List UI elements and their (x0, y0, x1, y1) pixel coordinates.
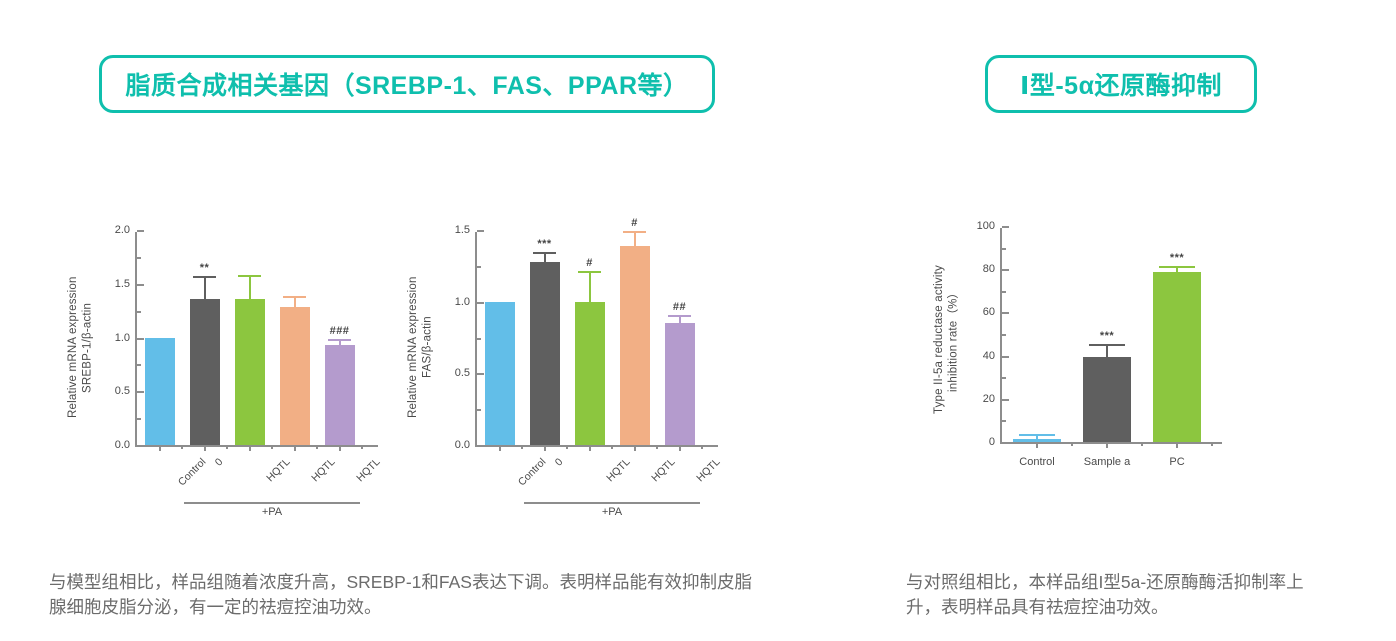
significance-marker: # (586, 257, 593, 269)
xtick-label: Control (515, 456, 547, 488)
panel-title-5alpha-reductase: Ⅰ型-5α还原酶抑制 (985, 55, 1257, 113)
error-bar (589, 273, 591, 302)
ytick-label: 0 (989, 436, 1002, 448)
ylabel-line-0: Relative mRNA expression (406, 240, 420, 455)
ytick-label: 40 (983, 350, 1002, 362)
chart-reductase-plot-area: 020406080100Control***Sample a***PC (1000, 228, 1222, 444)
bar (235, 299, 265, 445)
bar (1013, 439, 1061, 442)
error-bar (1036, 436, 1038, 439)
bar (530, 262, 560, 445)
xtick-minor (361, 445, 363, 449)
xtick-minor (611, 445, 613, 449)
error-bar (249, 277, 251, 299)
xtick (679, 445, 681, 451)
chart-reductase-ylabel: Type II-5a reductase activityinhibition … (932, 232, 961, 447)
xtick (249, 445, 251, 451)
xtick-label: HQTL (309, 456, 337, 484)
xtick (294, 445, 296, 451)
ytick-label: 0.0 (455, 439, 477, 451)
significance-marker: ## (673, 301, 686, 313)
xtick-minor (1211, 442, 1213, 446)
ytick-label: 100 (977, 220, 1002, 232)
ylabel-line-0: Relative mRNA expression (66, 240, 80, 455)
xtick (544, 445, 546, 451)
bar (325, 345, 355, 445)
xtick-label: HQTL (354, 456, 382, 484)
xtick-minor (701, 445, 703, 449)
ytick-label: 0.5 (455, 367, 477, 379)
xtick-label: Control (1019, 456, 1054, 468)
significance-marker: *** (1100, 330, 1114, 342)
xtick-label: 0 (552, 456, 565, 469)
xtick-label: HQTL (649, 456, 677, 484)
ylabel-line-1: inhibition rate（%） (946, 232, 960, 447)
ytick-label: 20 (983, 393, 1002, 405)
xtick (634, 445, 636, 451)
error-bar-cap (283, 296, 305, 298)
xtick (159, 445, 161, 451)
chart-srebp1-plot-area: 0.00.51.01.52.0Control**0HQTLHQTL###HQTL… (135, 232, 378, 447)
xtick-label: HQTL (264, 456, 292, 484)
xtick (499, 445, 501, 451)
bar (620, 246, 650, 445)
significance-marker: *** (537, 238, 551, 250)
xtick (1106, 442, 1108, 448)
xtick-label: 0 (212, 456, 225, 469)
error-bar (294, 298, 296, 308)
bar (665, 323, 695, 445)
xtick (1036, 442, 1038, 448)
panel-title-lipid-synthesis-genes: 脂质合成相关基因（SREBP-1、FAS、PPAR等） (99, 55, 715, 113)
error-bar (679, 317, 681, 323)
ytick-label: 1.0 (455, 296, 477, 308)
significance-marker: ** (200, 262, 210, 274)
error-bar-cap (533, 252, 555, 254)
xtick (589, 445, 591, 451)
error-bar-cap (623, 231, 645, 233)
group-bracket-line (524, 502, 700, 504)
xtick-label: HQTL (694, 456, 722, 484)
error-bar-cap (328, 339, 350, 341)
xtick-minor (316, 445, 318, 449)
error-bar-cap (1019, 434, 1055, 436)
ytick-label: 0.5 (115, 385, 137, 397)
error-bar (634, 233, 636, 246)
bar (280, 307, 310, 445)
error-bar (339, 341, 341, 345)
group-bracket-label: +PA (262, 506, 282, 518)
xtick (339, 445, 341, 451)
xtick-minor (271, 445, 273, 449)
group-bracket-label: +PA (602, 506, 622, 518)
significance-marker: ### (330, 325, 350, 337)
xtick-minor (226, 445, 228, 449)
error-bar (544, 254, 546, 261)
bar (1083, 357, 1131, 442)
significance-marker: *** (1170, 252, 1184, 264)
chart-srebp1-ylabel: Relative mRNA expressionSREBP-1/β-actin (66, 240, 95, 455)
xtick-minor (1071, 442, 1073, 446)
chart-fas-plot-area: 0.00.51.01.5Control***0#HQTL#HQTL##HQTL+… (475, 232, 718, 447)
error-bar-cap (1089, 344, 1125, 346)
significance-marker: # (631, 217, 638, 229)
bar (1153, 272, 1201, 442)
error-bar-cap (668, 315, 690, 317)
ylabel-line-1: SREBP-1/β-actin (80, 240, 94, 455)
xtick-label: Control (175, 456, 207, 488)
error-bar (1106, 346, 1108, 357)
ylabel-line-0: Type II-5a reductase activity (932, 232, 946, 447)
xtick (1176, 442, 1178, 448)
ytick-label: 80 (983, 263, 1002, 275)
error-bar (1176, 268, 1178, 272)
bar (575, 302, 605, 445)
ylabel-line-1: FAS/β-actin (420, 240, 434, 455)
ytick-label: 1.5 (455, 224, 477, 236)
caption-left: 与模型组相比，样品组随着浓度升高，SREBP-1和FAS表达下调。表明样品能有效… (49, 570, 769, 621)
xtick-label: HQTL (604, 456, 632, 484)
bar (145, 338, 175, 446)
xtick-label: Sample a (1084, 456, 1130, 468)
bar (190, 299, 220, 445)
error-bar-cap (238, 275, 260, 277)
xtick-minor (181, 445, 183, 449)
xtick-minor (566, 445, 568, 449)
group-bracket-line (184, 502, 360, 504)
xtick-minor (1141, 442, 1143, 446)
xtick-minor (656, 445, 658, 449)
ytick-label: 0.0 (115, 439, 137, 451)
xtick-minor (521, 445, 523, 449)
error-bar (204, 278, 206, 298)
ytick-label: 60 (983, 306, 1002, 318)
caption-right: 与对照组相比，本样品组I型5a-还原酶酶活抑制率上升，表明样品具有祛痘控油功效。 (906, 570, 1336, 621)
error-bar-cap (578, 271, 600, 273)
ytick-label: 1.5 (115, 278, 137, 290)
ytick-label: 2.0 (115, 224, 137, 236)
ytick-label: 1.0 (115, 332, 137, 344)
bar (485, 302, 515, 445)
chart-fas-ylabel: Relative mRNA expressionFAS/β-actin (406, 240, 435, 455)
error-bar-cap (193, 276, 215, 278)
xtick-label: PC (1169, 456, 1184, 468)
xtick (204, 445, 206, 451)
error-bar-cap (1159, 266, 1195, 268)
